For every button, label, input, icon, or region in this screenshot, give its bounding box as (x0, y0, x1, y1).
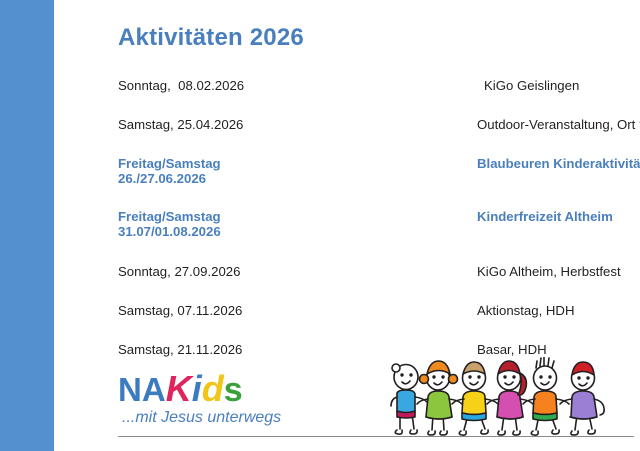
schedule-row-event: KiGo Geislingen (484, 78, 579, 93)
schedule-row-event: KiGo Altheim, Herbstfest (477, 264, 621, 279)
left-accent-bar (0, 0, 54, 451)
schedule-row-date-line2: 31.07/01.08.2026 (118, 224, 221, 239)
schedule-row-event: Outdoor-Veranstaltung, Ort ? (477, 117, 640, 132)
logo-wordmark: NAKids (118, 369, 243, 409)
footer-divider (118, 436, 634, 437)
logo-letter: i (192, 368, 202, 409)
schedule-row-date-line2: 26./27.06.2026 (118, 171, 221, 186)
nakids-logo: NAKids ...mit Jesus unterwegs (118, 369, 318, 435)
child-5 (523, 357, 569, 435)
schedule-row-date: Sonntag, 27.09.2026 (118, 264, 240, 279)
schedule-row-date: Samstag, 25.04.2026 (118, 117, 243, 132)
schedule-row-event: Basar, HDH (477, 342, 547, 357)
schedule-row-date: Samstag, 21.11.2026 (118, 342, 242, 357)
schedule-row-date: Samstag, 07.11.2026 (118, 303, 242, 318)
logo-letter: A (142, 371, 166, 408)
schedule-row: Freitag/Samstag31.07/01.08.2026Kinderfre… (118, 209, 628, 227)
schedule-row-event: Aktionstag, HDH (477, 303, 574, 318)
children-illustration-icon (386, 357, 634, 439)
schedule-row-event: Blaubeuren Kinderaktivität AB Ulm (477, 156, 640, 171)
child-2 (417, 361, 462, 435)
schedule-row-date: Freitag/Samstag26./27.06.2026 (118, 156, 221, 186)
child-3 (452, 362, 498, 435)
slide-canvas: Aktivitäten 2026 Sonntag, 08.02.2026KiGo… (0, 0, 640, 451)
schedule-row: Samstag, 25.04.2026Outdoor-Veranstaltung… (118, 117, 628, 135)
schedule-row-date: Sonntag, 08.02.2026 (118, 78, 244, 93)
schedule-row: Sonntag, 08.02.2026KiGo Geislingen (118, 78, 628, 96)
child-6 (560, 362, 604, 435)
logo-letter: K (166, 368, 192, 409)
schedule-row-date: Freitag/Samstag31.07/01.08.2026 (118, 209, 221, 239)
child-4 (487, 361, 533, 435)
logo-letter: s (224, 371, 243, 409)
schedule-row: Samstag, 07.11.2026Aktionstag, HDH (118, 303, 628, 321)
logo-letter: d (202, 368, 224, 409)
page-title: Aktivitäten 2026 (118, 24, 304, 52)
schedule-row: Sonntag, 27.09.2026KiGo Altheim, Herbstf… (118, 264, 628, 282)
logo-tagline: ...mit Jesus unterwegs (122, 409, 281, 427)
logo-letter: N (118, 371, 142, 408)
schedule-row-event: Kinderfreizeit Altheim (477, 209, 613, 224)
schedule-row: Freitag/Samstag26./27.06.2026Blaubeuren … (118, 156, 628, 174)
